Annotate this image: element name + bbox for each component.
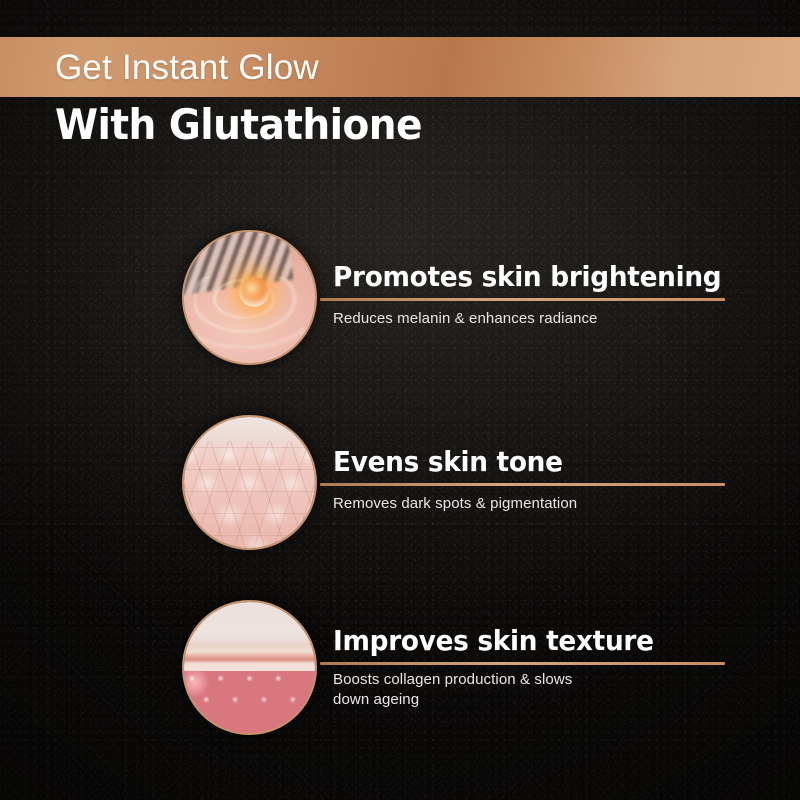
header-banner: Get Instant Glow: [0, 37, 800, 97]
feature-list: Promotes skin brightening Reduces melani…: [0, 230, 800, 785]
feature-subtitle: Removes dark spots & pigmentation: [333, 476, 733, 514]
page-headline: With Glutathione: [55, 104, 422, 146]
skin-surface-texture-art: [184, 417, 315, 548]
feature-text-block: Evens skin tone Removes dark spots & pig…: [333, 415, 733, 514]
feature-item-even-tone: Evens skin tone Removes dark spots & pig…: [0, 415, 800, 600]
feature-subtitle: Reduces melanin & enhances radiance: [333, 291, 733, 329]
glutathione-infographic-poster: Get Instant Glow With Glutathione Promot…: [0, 0, 800, 800]
banner-title: Get Instant Glow: [0, 50, 319, 85]
feature-subtitle: Boosts collagen production & slows down …: [333, 655, 733, 710]
feature-text-block: Promotes skin brightening Reduces melani…: [333, 230, 733, 329]
cell-ripple-rings: [194, 277, 304, 350]
skin-layers-collagen-art: [184, 602, 315, 733]
skin-cell-glow-icon: [182, 230, 317, 365]
feature-item-brightening: Promotes skin brightening Reduces melani…: [0, 230, 800, 415]
feature-title: Evens skin tone: [333, 415, 709, 476]
skin-cell-glow-art: [184, 232, 315, 363]
skin-surface-texture-icon: [182, 415, 317, 550]
feature-text-block: Improves skin texture Boosts collagen pr…: [333, 600, 733, 710]
skin-layers-collagen-icon: [182, 600, 317, 735]
feature-item-texture: Improves skin texture Boosts collagen pr…: [0, 600, 800, 785]
feature-title: Improves skin texture: [333, 600, 709, 655]
feature-title: Promotes skin brightening: [333, 230, 709, 291]
